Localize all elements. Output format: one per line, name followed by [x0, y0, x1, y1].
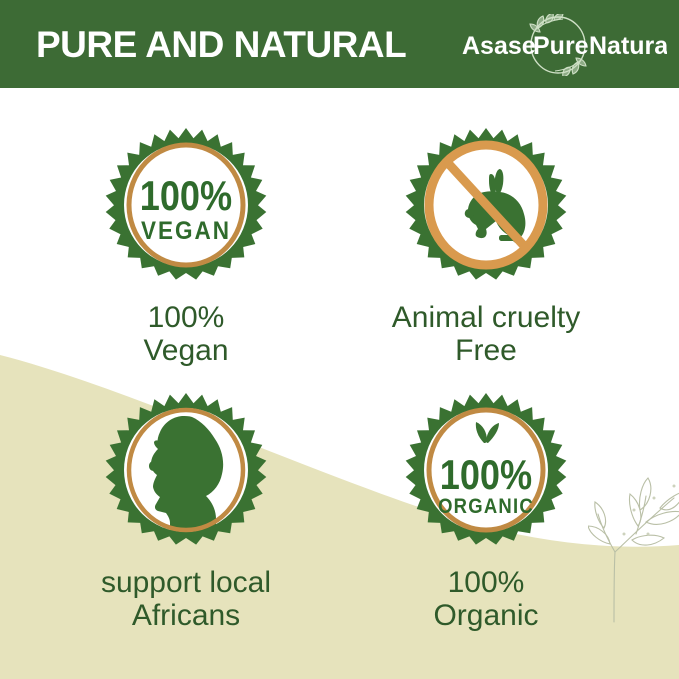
badge-caption-cruelty-free: Animal cruelty Free — [336, 302, 636, 367]
brand-logo: Asase Pure Naturals — [462, 14, 667, 76]
african-woman-profile-icon — [104, 391, 268, 555]
badge-organic: 100% ORGANIC 100% Organic — [336, 391, 636, 632]
badge-caption-vegan: 100% Vegan — [36, 302, 336, 367]
vegan-seal-icon: 100% VEGAN — [104, 126, 268, 290]
seal-keyword-label: ORGANIC — [438, 495, 534, 518]
badge-support-local-africans: support local Africans — [36, 391, 336, 632]
seal-percent-label: 100% — [440, 453, 532, 499]
badge-caption-support-local-africans: support local Africans — [36, 567, 336, 632]
badge-cruelty-free: Animal cruelty Free — [336, 126, 636, 367]
page-title: PURE AND NATURAL — [36, 26, 406, 63]
header-banner: PURE AND NATURAL — [0, 0, 679, 88]
brand-word-naturals: Naturals — [589, 32, 667, 60]
organic-seal-icon: 100% ORGANIC — [404, 391, 568, 555]
seal-keyword-label: VEGAN — [141, 217, 231, 245]
badge-vegan: 100% VEGAN 100% Vegan — [36, 126, 336, 367]
brand-word-asase: Asase — [462, 32, 536, 60]
brand-word-pure: Pure — [533, 32, 589, 60]
no-animal-cruelty-icon — [404, 126, 568, 290]
seal-percent-label: 100% — [140, 174, 232, 220]
product-infographic: PURE AND NATURAL — [0, 0, 679, 679]
badge-caption-organic: 100% Organic — [336, 567, 636, 632]
